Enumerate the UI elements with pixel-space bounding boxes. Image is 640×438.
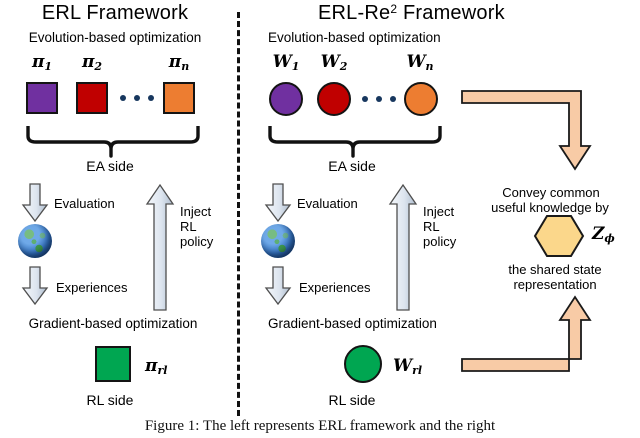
left-panel-title: ERL Framework [0, 2, 230, 25]
left-policy-1-square [26, 82, 58, 114]
ea-to-shared-arrow [461, 88, 591, 172]
left-policy-2-label: π2 [68, 52, 116, 73]
globe-icon [261, 224, 295, 258]
figure-caption: Figure 1: The left represents ERL framew… [0, 418, 640, 438]
right-weight-1-circle [269, 82, 303, 116]
right-gradient-heading: Gradient-based optimization [268, 316, 437, 331]
left-inject-arrow [145, 184, 175, 312]
left-evaluation-arrow [22, 183, 48, 223]
right-panel-title: ERL-Re2 Framework [318, 2, 505, 25]
right-rl-agent-label: Wrl [393, 356, 422, 377]
right-experiences-arrow [265, 266, 291, 306]
left-policy-1-label: π1 [18, 52, 66, 73]
left-experiences-arrow [22, 266, 48, 306]
convey-line-1: Convey common [466, 185, 636, 200]
right-evaluation-arrow [265, 183, 291, 223]
right-weight-n-label: Wn [396, 52, 444, 73]
shared-representation-label: Zϕ [592, 224, 615, 245]
figure-diagram: ERL Framework Evolution-based optimizati… [0, 0, 640, 438]
right-weight-1-label: W1 [262, 52, 310, 73]
right-weight-2-circle [317, 82, 351, 116]
right-evaluation-label: Evaluation [297, 196, 358, 211]
right-population-brace [264, 124, 446, 158]
left-inject-label: Inject RL policy [180, 204, 213, 249]
globe-icon [18, 224, 52, 258]
left-policy-n-square [163, 82, 195, 114]
panel-divider [237, 12, 240, 416]
rl-to-shared-arrow [461, 296, 591, 374]
left-rl-agent-square [95, 346, 131, 382]
left-policy-2-square [76, 82, 108, 114]
left-population-ellipsis [120, 95, 154, 101]
left-experiences-label: Experiences [56, 280, 128, 295]
left-gradient-heading: Gradient-based optimization [0, 316, 226, 331]
shared-desc-line-1: the shared state [470, 262, 640, 277]
left-rl-side-label: RL side [30, 392, 190, 408]
right-rl-agent-circle [344, 345, 382, 383]
left-population-brace [22, 124, 204, 158]
right-experiences-label: Experiences [299, 280, 371, 295]
right-population-ellipsis [362, 96, 396, 102]
left-ea-side-label: EA side [30, 158, 190, 174]
right-inject-arrow [388, 184, 418, 312]
left-policy-n-label: πn [155, 52, 203, 73]
right-rl-side-label: RL side [272, 392, 432, 408]
shared-representation-hexagon [533, 214, 585, 258]
right-inject-label: Inject RL policy [423, 204, 456, 249]
shared-desc-line-2: representation [470, 277, 640, 292]
left-evolution-heading: Evolution-based optimization [0, 30, 230, 45]
right-weight-2-label: W2 [310, 52, 358, 73]
convey-line-2: useful knowledge by [460, 200, 640, 215]
right-weight-n-circle [404, 82, 438, 116]
left-rl-agent-label: πrl [145, 356, 167, 377]
right-ea-side-label: EA side [272, 158, 432, 174]
right-evolution-heading: Evolution-based optimization [268, 30, 441, 45]
left-evaluation-label: Evaluation [54, 196, 115, 211]
